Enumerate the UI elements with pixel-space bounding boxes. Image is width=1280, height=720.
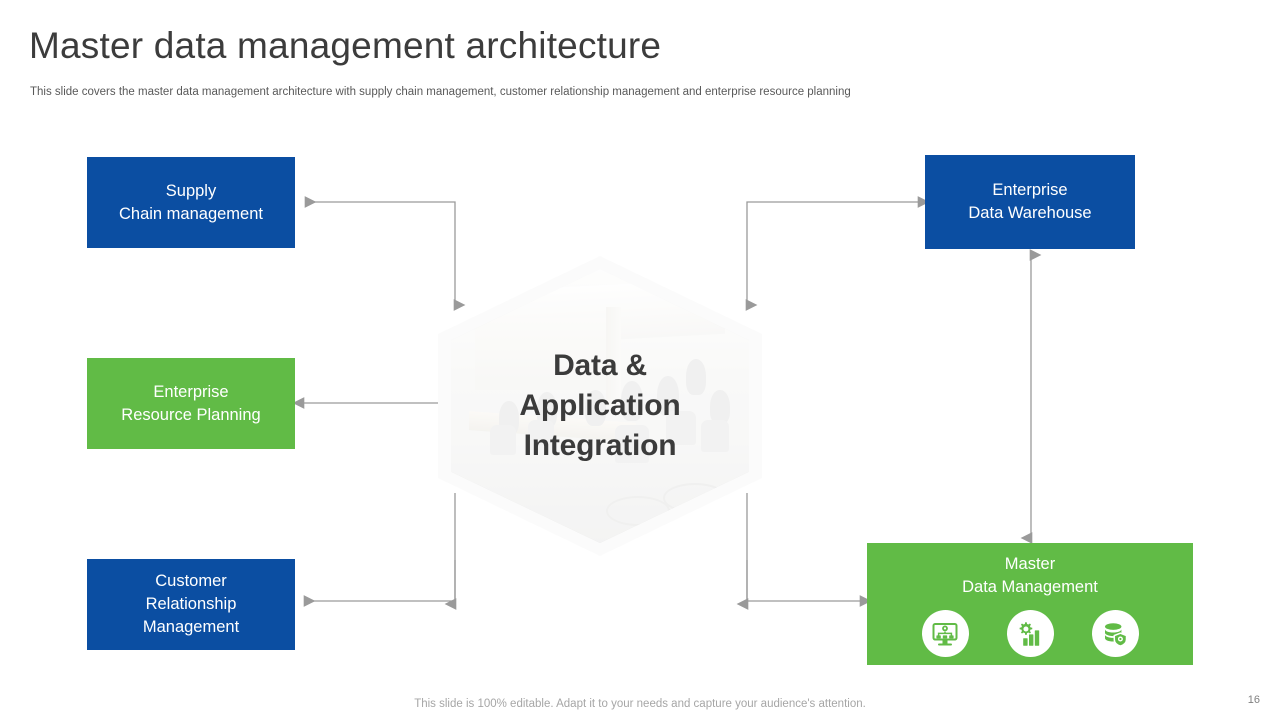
monitor-network-gear-icon[interactable] (922, 610, 969, 657)
connector-hub-to-supply-chain (306, 202, 455, 305)
center-hub-label: Data & Application Integration (438, 256, 762, 556)
database-shield-icon[interactable] (1092, 610, 1139, 657)
node-customer-relationship-management-label: Customer Relationship Management (143, 570, 239, 639)
node-supply-chain-management[interactable]: Supply Chain management (87, 157, 295, 248)
node-enterprise-resource-planning-label: Enterprise Resource Planning (121, 381, 260, 427)
node-enterprise-data-warehouse-label: Enterprise Data Warehouse (968, 179, 1091, 225)
node-enterprise-data-warehouse[interactable]: Enterprise Data Warehouse (925, 155, 1135, 249)
footer-note: This slide is 100% editable. Adapt it to… (0, 698, 1280, 710)
connector-hub-to-master-data-management (747, 493, 861, 604)
page-subtitle: This slide covers the master data manage… (30, 84, 851, 100)
node-master-data-management-label: Master Data Management (962, 553, 1098, 599)
slide-canvas: Master data management architecture This… (0, 0, 1280, 720)
gear-bar-chart-icon[interactable] (1007, 610, 1054, 657)
connector-hub-to-customer-relationship-management (305, 493, 455, 604)
connector-hub-to-enterprise-data-warehouse (747, 202, 919, 305)
page-number: 16 (1248, 694, 1260, 706)
center-hub-hexagon[interactable]: Data & Application Integration (438, 256, 762, 556)
master-data-management-icon-row (922, 610, 1139, 657)
page-title: Master data management architecture (29, 22, 661, 70)
node-master-data-management[interactable]: Master Data Management (867, 543, 1193, 665)
node-supply-chain-management-label: Supply Chain management (119, 180, 263, 226)
node-customer-relationship-management[interactable]: Customer Relationship Management (87, 559, 295, 650)
node-enterprise-resource-planning[interactable]: Enterprise Resource Planning (87, 358, 295, 449)
